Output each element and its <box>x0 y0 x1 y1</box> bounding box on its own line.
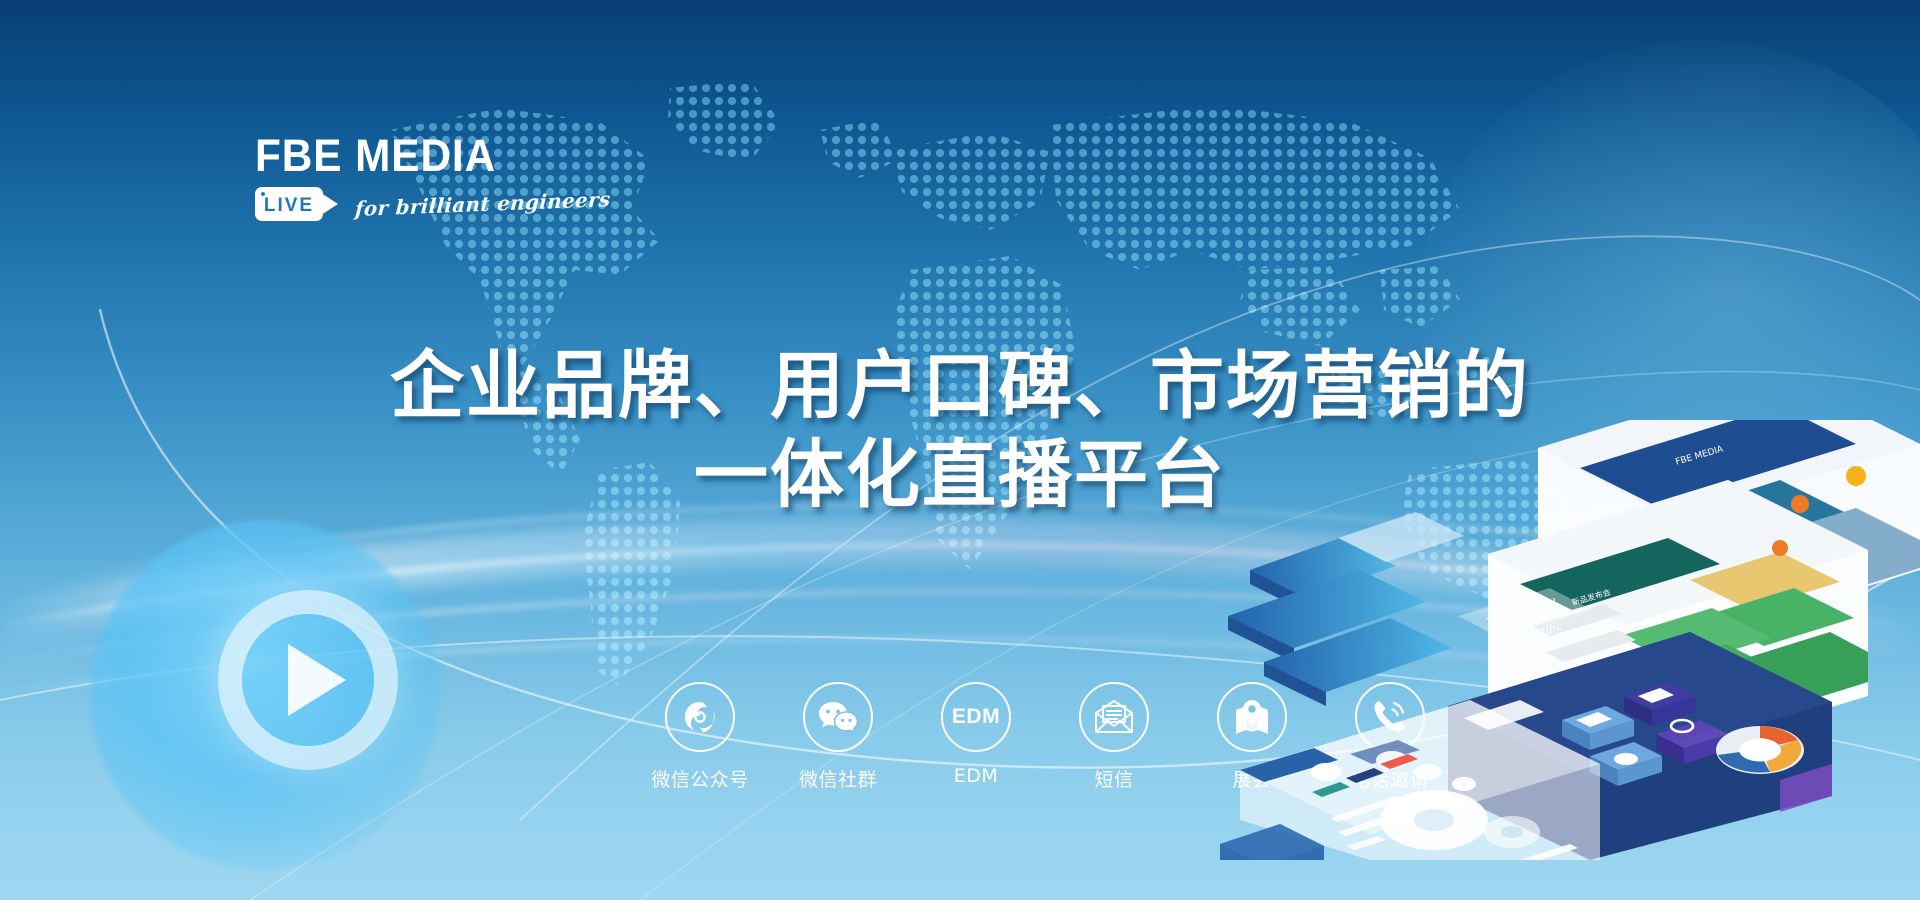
channel-item-wechat-group[interactable]: 微信社群 <box>788 682 888 792</box>
live-badge-label: LIVE <box>255 187 323 221</box>
play-button[interactable] <box>218 590 398 770</box>
isometric-device-illustration: FBE MEDIA <box>1220 420 1920 860</box>
channel-item-edm[interactable]: EDM EDM <box>926 682 1026 787</box>
channel-label: 微信公众号 <box>651 765 749 792</box>
envelope-open-icon <box>1079 682 1149 752</box>
wechat-official-swirl-icon <box>665 682 735 752</box>
brand-name: FBE MEDIA <box>255 133 499 178</box>
brand-logo[interactable]: FBE MEDIA LIVE for brilliant engineers <box>255 133 515 221</box>
channel-label: 短信 <box>1094 765 1133 792</box>
edm-text-icon: EDM <box>941 682 1011 752</box>
channel-item-wechat-official[interactable]: 微信公众号 <box>650 682 750 792</box>
play-triangle-icon <box>288 644 346 716</box>
channel-label: 微信社群 <box>799 765 877 792</box>
hero-banner: FBE MEDIA LIVE for brilliant engineers 企… <box>0 0 1920 900</box>
live-camera-icon: LIVE <box>255 187 341 221</box>
edm-inner-text: EDM <box>952 705 1000 729</box>
headline-line-1: 企业品牌、用户口碑、市场营销的 <box>0 345 1920 428</box>
channel-label: EDM <box>954 765 999 787</box>
channel-item-sms[interactable]: 短信 <box>1064 682 1164 792</box>
wechat-bubbles-icon <box>803 682 873 752</box>
